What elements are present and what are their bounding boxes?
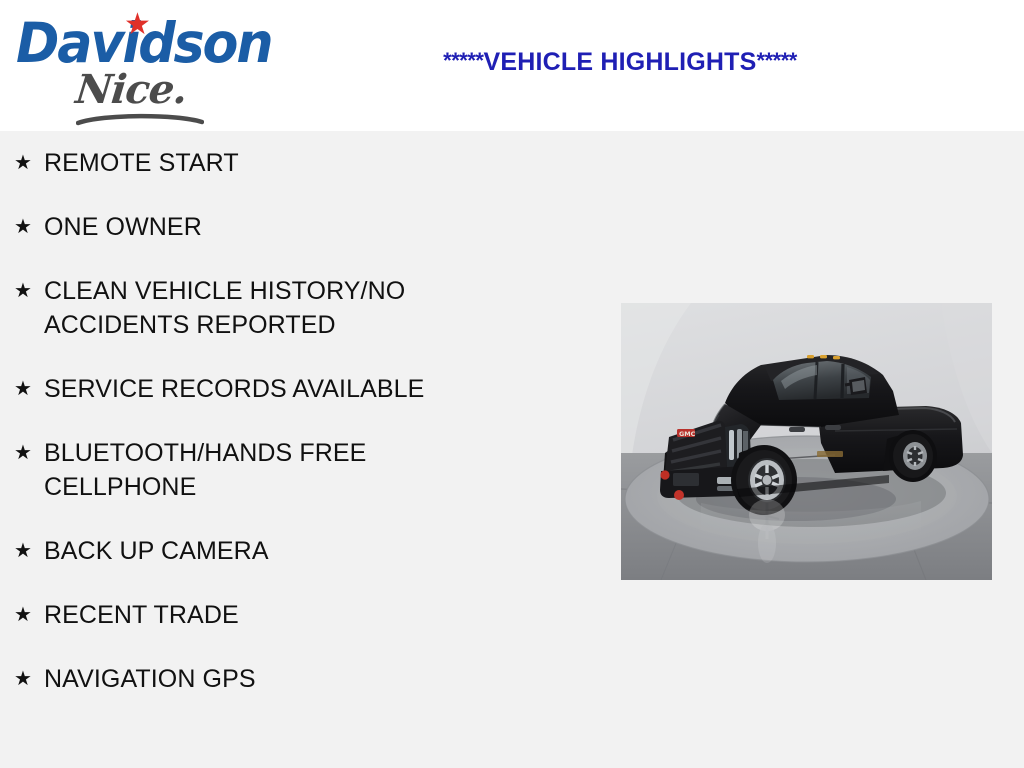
logo-swoosh-icon (76, 112, 204, 126)
list-item: ★ REMOTE START (0, 146, 560, 180)
slide-canvas: Davidson ★ Nice. *****VEHICLE HIGHLIGHTS… (0, 0, 1024, 768)
star-bullet-icon: ★ (14, 372, 44, 406)
list-item: ★ CLEAN VEHICLE HISTORY/NO ACCIDENTS REP… (0, 274, 560, 342)
logo-star-icon: ★ (124, 12, 150, 38)
list-item-label: BLUETOOTH/HANDS FREE CELLPHONE (44, 436, 514, 504)
star-bullet-icon: ★ (14, 210, 44, 244)
list-item: ★ RECENT TRADE (0, 598, 560, 632)
star-bullet-icon: ★ (14, 534, 44, 568)
list-item-label: REMOTE START (44, 146, 514, 180)
list-item-label: SERVICE RECORDS AVAILABLE (44, 372, 514, 406)
list-item-label: RECENT TRADE (44, 598, 514, 632)
list-item-label: BACK UP CAMERA (44, 534, 514, 568)
star-bullet-icon: ★ (14, 598, 44, 632)
logo-sub-text: Nice. (74, 70, 189, 110)
star-bullet-icon: ★ (14, 274, 44, 308)
title-prefix-asterisks: ***** (443, 48, 483, 73)
list-item: ★ BACK UP CAMERA (0, 534, 560, 568)
title-suffix-asterisks: ***** (757, 48, 797, 73)
vehicle-photo: GMC (621, 303, 992, 580)
list-item: ★ ONE OWNER (0, 210, 560, 244)
dealer-logo: Davidson ★ Nice. (14, 8, 276, 124)
list-item-label: ONE OWNER (44, 210, 514, 244)
title-text: VEHICLE HIGHLIGHTS (483, 48, 756, 76)
list-item: ★ SERVICE RECORDS AVAILABLE (0, 372, 560, 406)
list-item: ★ BLUETOOTH/HANDS FREE CELLPHONE (0, 436, 560, 504)
page-title: *****VEHICLE HIGHLIGHTS***** (300, 48, 940, 77)
list-item-label: NAVIGATION GPS (44, 662, 514, 696)
vehicle-highlights-list: ★ REMOTE START ★ ONE OWNER ★ CLEAN VEHIC… (0, 146, 560, 726)
list-item: ★ NAVIGATION GPS (0, 662, 560, 696)
star-bullet-icon: ★ (14, 436, 44, 470)
star-bullet-icon: ★ (14, 662, 44, 696)
svg-text:GMC: GMC (679, 430, 696, 438)
star-bullet-icon: ★ (14, 146, 44, 180)
list-item-label: CLEAN VEHICLE HISTORY/NO ACCIDENTS REPOR… (44, 274, 514, 342)
